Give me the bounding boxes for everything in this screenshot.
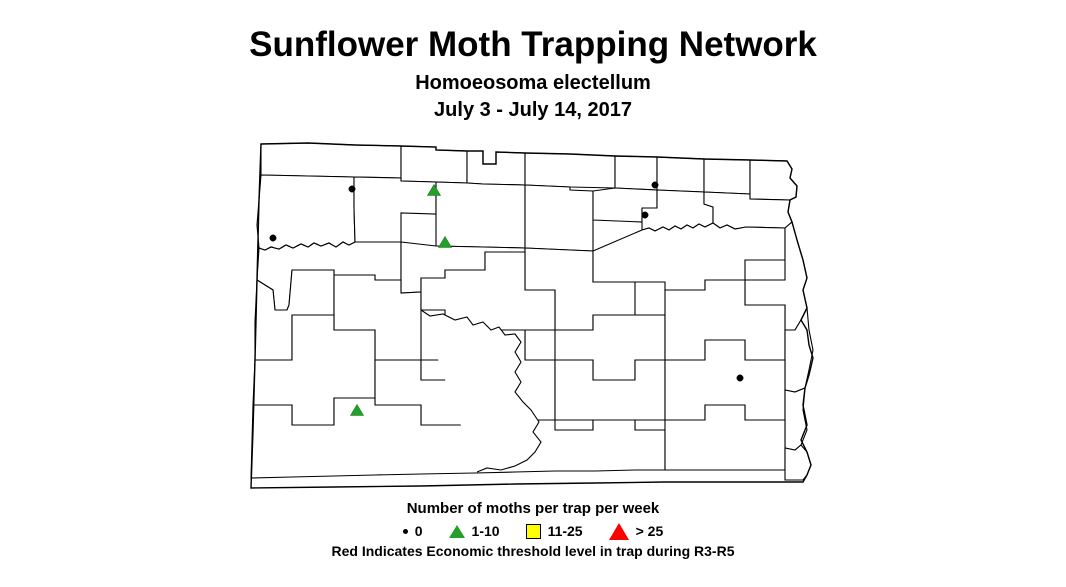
county-rolette xyxy=(615,156,657,190)
county-divide xyxy=(261,143,401,178)
legend-green-triangle-icon xyxy=(449,525,465,538)
legend-item-low: 1-10 xyxy=(449,522,526,540)
legend-label-high: > 25 xyxy=(636,522,664,540)
county-boundaries xyxy=(251,143,813,480)
page-title: Sunflower Moth Trapping Network xyxy=(0,24,1066,66)
county-bottineau xyxy=(525,153,615,188)
trap-site-marker xyxy=(737,375,743,381)
trap-site-marker xyxy=(270,235,276,241)
legend-red-triangle-icon xyxy=(609,523,629,540)
county-cavalier xyxy=(704,159,750,194)
north-dakota-map xyxy=(215,130,815,490)
poster-canvas: Sunflower Moth Trapping Network Homoeoso… xyxy=(0,0,1066,587)
species-name: Homoeosoma electellum xyxy=(0,70,1066,96)
county-mountrail xyxy=(354,177,436,242)
map-legend: Number of moths per trap per week 0 1-10… xyxy=(0,499,1066,560)
legend-items-row: 0 1-10 11-25 > 25 xyxy=(0,521,1066,541)
legend-item-medium: 11-25 xyxy=(526,522,609,540)
trap-site-marker xyxy=(349,186,355,192)
legend-label-medium: 11-25 xyxy=(548,522,583,540)
date-range: July 3 - July 14, 2017 xyxy=(0,97,1066,123)
legend-item-zero: 0 xyxy=(403,522,449,540)
title-block: Sunflower Moth Trapping Network Homoeoso… xyxy=(0,24,1066,123)
legend-label-low: 1-10 xyxy=(472,522,500,540)
county-ward xyxy=(436,182,525,248)
map-svg xyxy=(215,130,815,490)
legend-item-high: > 25 xyxy=(609,522,664,540)
trap-site-marker xyxy=(642,212,648,218)
legend-dot-icon xyxy=(403,529,408,534)
county-mchenry xyxy=(525,185,593,251)
county-towner xyxy=(657,157,704,192)
trap-site-marker xyxy=(652,182,658,188)
legend-yellow-square-icon xyxy=(526,524,541,539)
legend-note: Red Indicates Economic threshold level i… xyxy=(0,542,1066,560)
county-burke xyxy=(401,146,467,183)
legend-label-zero: 0 xyxy=(415,522,423,540)
legend-title: Number of moths per trap per week xyxy=(0,499,1066,518)
